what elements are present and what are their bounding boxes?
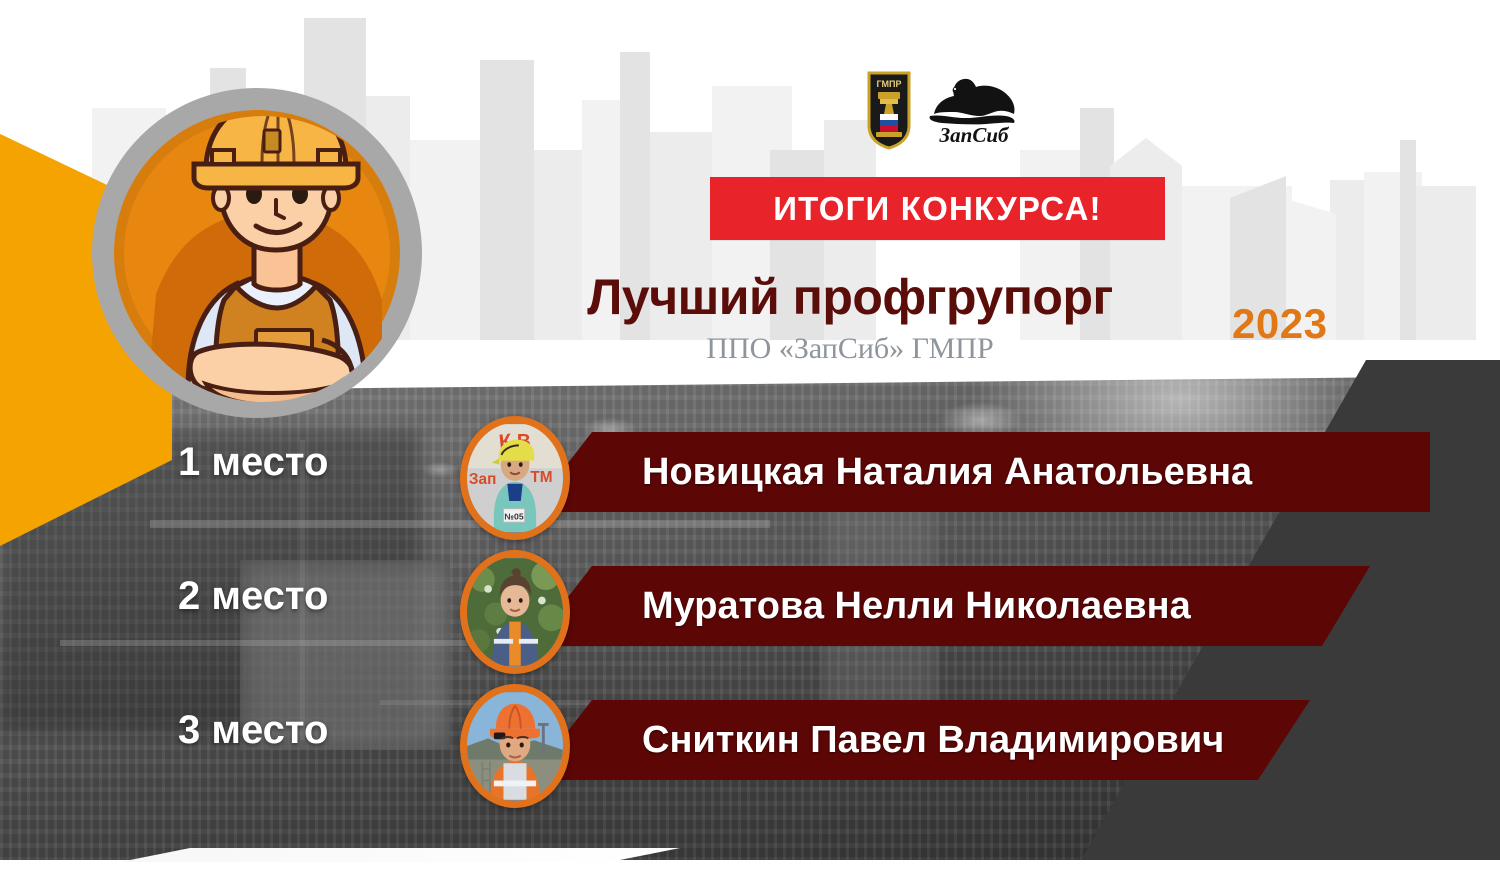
skyline-silhouette [1400,140,1416,340]
place-label: 2 место [178,574,418,619]
winner-name: Муратова Нелли Николаевна [642,585,1191,628]
winner-name: Сниткин Павел Владимирович [642,719,1224,762]
gmpr-shield-logo-icon: ГМПР [866,70,912,150]
svg-text:Зап: Зап [469,471,496,488]
worker-mascot-medallion [92,88,422,418]
svg-text:№05: №05 [504,511,523,521]
page-title: Лучший профгрупорг [470,268,1230,324]
zapsib-bear-logo-icon: ЗапСиб [922,70,1022,150]
avatar [460,684,570,808]
skyline-silhouette [1416,186,1476,340]
name-bar: Сниткин Павел Владимирович [530,700,1310,780]
results-banner: ИТОГИ КОНКУРСА! [710,177,1165,240]
name-bar: Новицкая Наталия Анатольевна [530,432,1430,512]
avatar-portrait-2 [467,557,563,667]
worker-illustration [86,94,428,436]
place-label: 3 место [178,708,418,753]
logo-group: ГМПР ЗапСиб [866,66,1026,154]
bottom-white-strip [0,860,1500,878]
winner-name: Новицкая Наталия Анатольевна [642,451,1252,494]
name-bar: Муратова Нелли Николаевна [530,566,1370,646]
page-subtitle: ППО «ЗапСиб» ГМПР [470,332,1230,366]
winner-row: 1 место Новицкая Наталия Анатольевна К В… [0,404,1500,544]
results-banner-label: ИТОГИ КОНКУРСА! [773,190,1101,228]
winner-row: 2 место Муратова Нелли Николаевна [0,538,1500,678]
winners-list: 1 место Новицкая Наталия Анатольевна К В… [0,404,1500,844]
year-label: 2023 [1232,300,1327,348]
avatar: К В Зап ТМ №05 [460,416,570,540]
avatar-portrait-3 [467,691,563,801]
winner-row: 3 место Сниткин Павел Владимирович [0,672,1500,812]
svg-text:ГМПР: ГМПР [876,79,901,89]
avatar-portrait-1: К В Зап ТМ №05 [467,423,563,533]
svg-text:ТМ: ТМ [530,469,552,486]
svg-text:ЗапСиб: ЗапСиб [938,123,1010,147]
place-label: 1 место [178,440,418,485]
avatar [460,550,570,674]
poster-canvas: ГМПР ЗапСиб ИТОГИ КОНКУРСА! Лучший профг… [0,0,1500,878]
